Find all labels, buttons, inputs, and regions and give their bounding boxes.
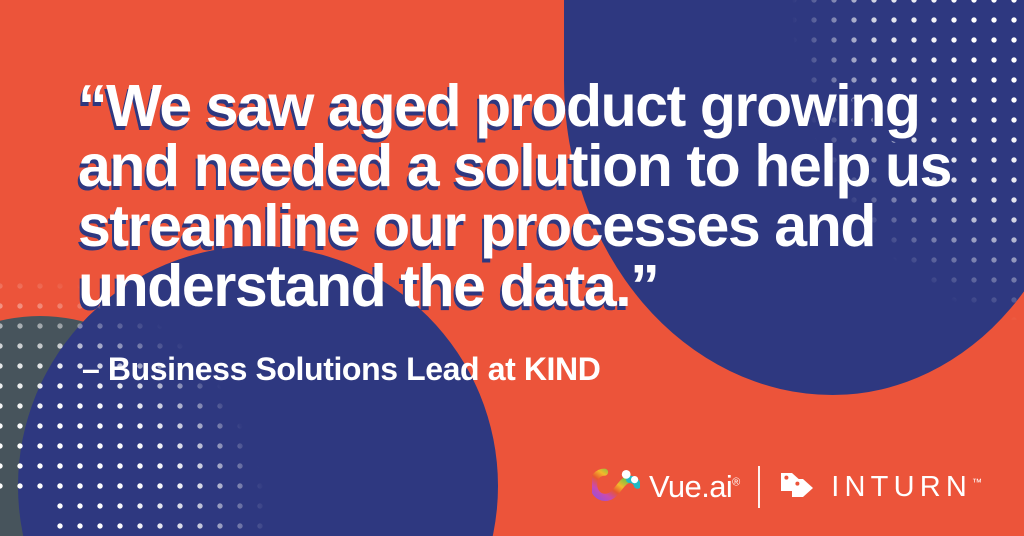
quote-card: “We saw aged product growing and needed … [0,0,1024,536]
quote-line-3: streamline our processes and [78,196,928,256]
vue-ai-wordmark-text: Vue.ai [649,469,732,504]
inturn-wordmark-text: INTURN [831,471,972,503]
quote-line-2: and needed a solution to help us [78,136,928,196]
vue-ai-logo[interactable]: Vue.ai® [592,468,740,507]
white-dot-grid-bottom-left-2 [50,316,280,536]
inturn-logo[interactable]: INTURN™ [778,467,982,508]
quote-attribution: – Business Solutions Lead at KIND [82,351,600,388]
quote-line-1: “We saw aged product growing [78,76,928,136]
quote-text-block: “We saw aged product growing and needed … [78,76,928,316]
inturn-wordmark: INTURN™ [831,471,982,504]
logo-lockup: Vue.ai® INTURN™ [592,466,982,508]
quote-line-4: understand the data.” [78,256,928,316]
logo-divider [758,466,760,508]
vue-ai-registered-symbol: ® [732,477,740,489]
bottom-left-slate-wedge [0,316,210,536]
infinity-gradient-icon [592,468,640,507]
double-price-tag-icon [778,467,820,508]
inturn-trademark-symbol: ™ [972,477,982,488]
vue-ai-wordmark: Vue.ai® [649,469,740,505]
